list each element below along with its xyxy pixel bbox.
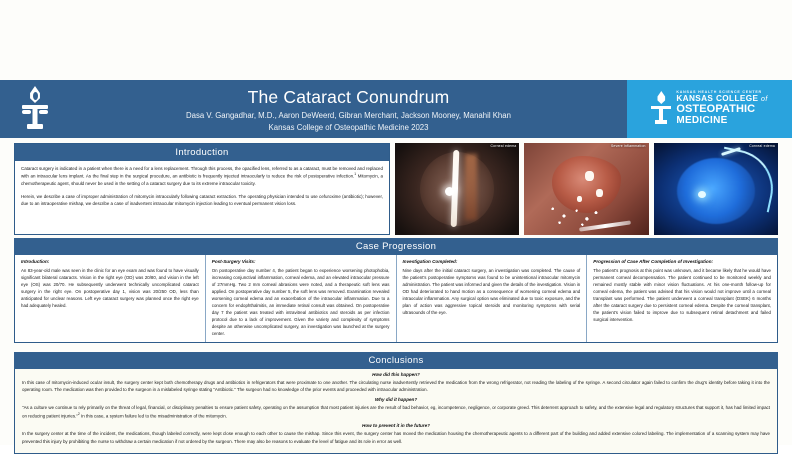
figure-severe-inflammation: Severe inflammation (524, 143, 648, 235)
case-progression-grid: Introduction: An 83-year-old male was se… (14, 255, 778, 343)
case-column-title: Investigation Completed: (403, 259, 581, 264)
case-column-text: The patient's prognosis at this point wa… (593, 267, 771, 323)
introduction-paragraph-1: Cataract surgery is indicated in a patie… (21, 165, 383, 187)
case-column-investigation-completed: Investigation Completed: Nine days after… (397, 255, 588, 342)
kcom-logo-text: KANSAS HEALTH SCIENCE CENTER KANSAS COLL… (676, 91, 767, 126)
author-list: Dasa V. Gangadhar, M.D., Aaron DeWeerd, … (70, 110, 627, 121)
case-progression-heading: Case Progression (14, 238, 778, 255)
conclusions-section: Conclusions How did this happen? In this… (14, 352, 778, 454)
case-column-introduction: Introduction: An 83-year-old male was se… (15, 255, 206, 342)
case-column-text: Nine days after the initial cataract sur… (403, 267, 581, 316)
caduceus-torch-icon (651, 91, 671, 127)
conclusion-question-why-did-it-happen: Why did it happen? (22, 397, 770, 402)
logo-line-health-science: KANSAS HEALTH SCIENCE CENTER (676, 91, 767, 95)
figure-gallery: Corneal edema Severe inflammation Cornea… (395, 143, 778, 235)
intro-p1-part-a: Cataract surgery is indicated in a patie… (21, 166, 383, 179)
header-title-block: The Cataract Conundrum Dasa V. Gangadhar… (70, 85, 627, 133)
kcom-logo: KANSAS HEALTH SCIENCE CENTER KANSAS COLL… (627, 80, 792, 138)
conclusion-question-how-to-prevent: How to prevent it in the future? (22, 423, 770, 428)
logo-line-of: of (761, 96, 768, 103)
conclusion-text-why-did-it-happen: "As a culture we continue to rely primar… (22, 404, 770, 419)
case-column-title: Introduction: (21, 259, 199, 264)
affiliation: Kansas College of Osteopathic Medicine 2… (70, 122, 627, 133)
poster-root: The Cataract Conundrum Dasa V. Gangadhar… (0, 0, 792, 445)
conclusion-quote-after: In this case, a system failure led to th… (80, 413, 227, 418)
figure-caption: Corneal edema (491, 144, 517, 148)
case-progression-section: Case Progression Introduction: An 83-yea… (14, 238, 778, 343)
conclusions-body: How did this happen? In this case of mit… (14, 369, 778, 454)
figure-caption: Severe inflammation (611, 144, 646, 148)
conclusion-question-how-did-this-happen: How did this happen? (22, 372, 770, 377)
logo-line-medicine: MEDICINE (676, 116, 767, 127)
logo-line-kansas-college: KANSAS COLLEGE (676, 94, 758, 103)
conclusion-text-how-to-prevent: In the surgery center at the time of the… (22, 430, 770, 444)
figure-corneal-edema-slitlamp: Corneal edema (395, 143, 519, 235)
case-column-title: Post-Surgery Visits: (212, 259, 390, 264)
introduction-heading: Introduction (15, 144, 389, 161)
case-column-text: On postoperative day number 4, the patie… (212, 267, 390, 337)
figure-caption: Corneal edema (749, 144, 775, 148)
case-column-progression-after-investigation: Progression of Case After Completion of … (587, 255, 777, 342)
page-title: The Cataract Conundrum (70, 87, 627, 108)
introduction-row: Introduction Cataract surgery is indicat… (14, 143, 778, 235)
case-column-title: Progression of Case After Completion of … (593, 259, 771, 264)
figure-corneal-edema-fluorescein: Corneal edema (654, 143, 778, 235)
introduction-paragraph-2: Herein, we describe a case of improper a… (21, 193, 383, 207)
torch-icon (22, 86, 48, 132)
conclusions-heading: Conclusions (14, 352, 778, 369)
case-column-text: An 83-year-old male was seen in the clin… (21, 267, 199, 309)
conclusion-text-how-did-this-happen: In this case of mitomycin-induced ocular… (22, 379, 770, 393)
introduction-section: Introduction Cataract surgery is indicat… (14, 143, 390, 235)
header-torch-logo (0, 80, 70, 138)
case-column-post-surgery-visits: Post-Surgery Visits: On postoperative da… (206, 255, 397, 342)
introduction-body: Cataract surgery is indicated in a patie… (15, 161, 389, 217)
poster-header: The Cataract Conundrum Dasa V. Gangadhar… (0, 80, 792, 138)
